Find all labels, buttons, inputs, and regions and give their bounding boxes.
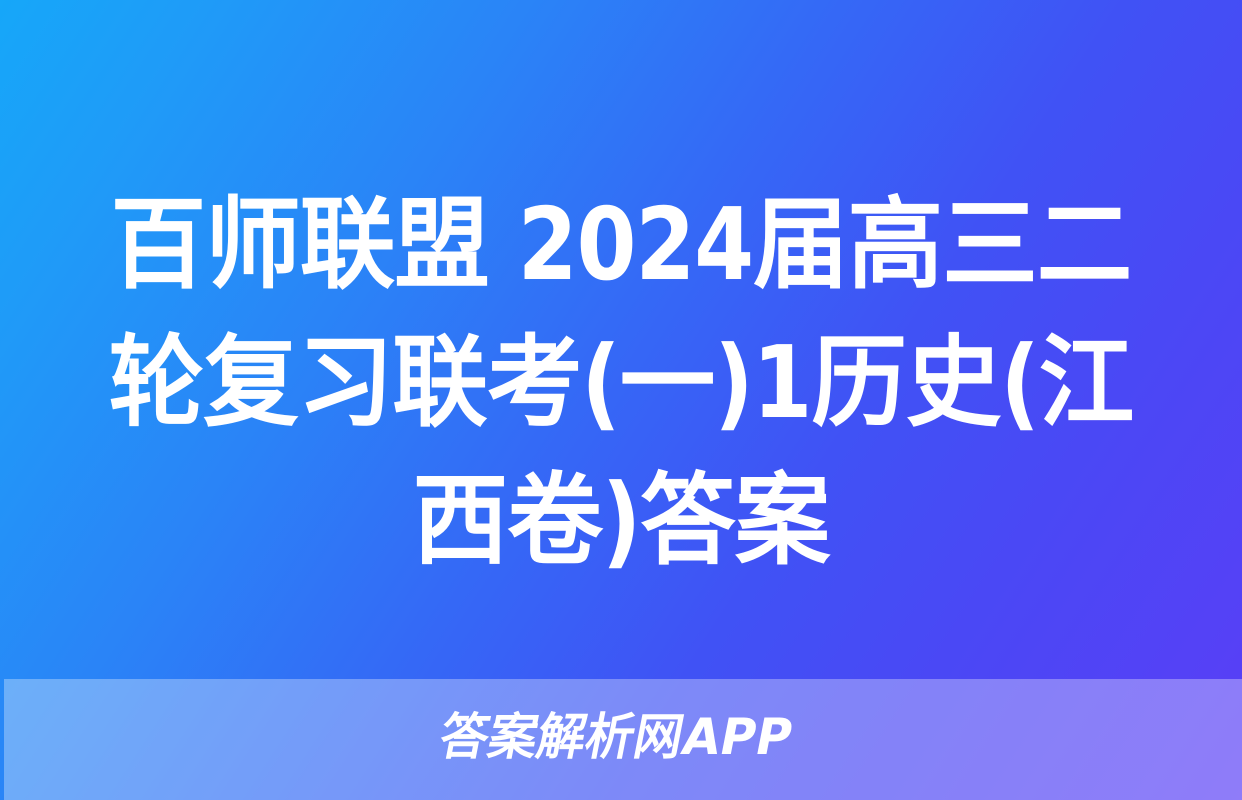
answer-cover-card: 百师联盟 2024届高三二轮复习联考(一)1历史(江西卷)答案 答案解析网APP <box>0 0 1242 800</box>
app-watermark-label: 答案解析网APP <box>435 706 808 768</box>
page-title: 百师联盟 2024届高三二轮复习联考(一)1历史(江西卷)答案 <box>0 176 1242 590</box>
page-title-text: 百师联盟 2024届高三二轮复习联考(一)1历史(江西卷)答案 <box>87 176 1155 590</box>
app-watermark: 答案解析网APP <box>0 706 1242 768</box>
